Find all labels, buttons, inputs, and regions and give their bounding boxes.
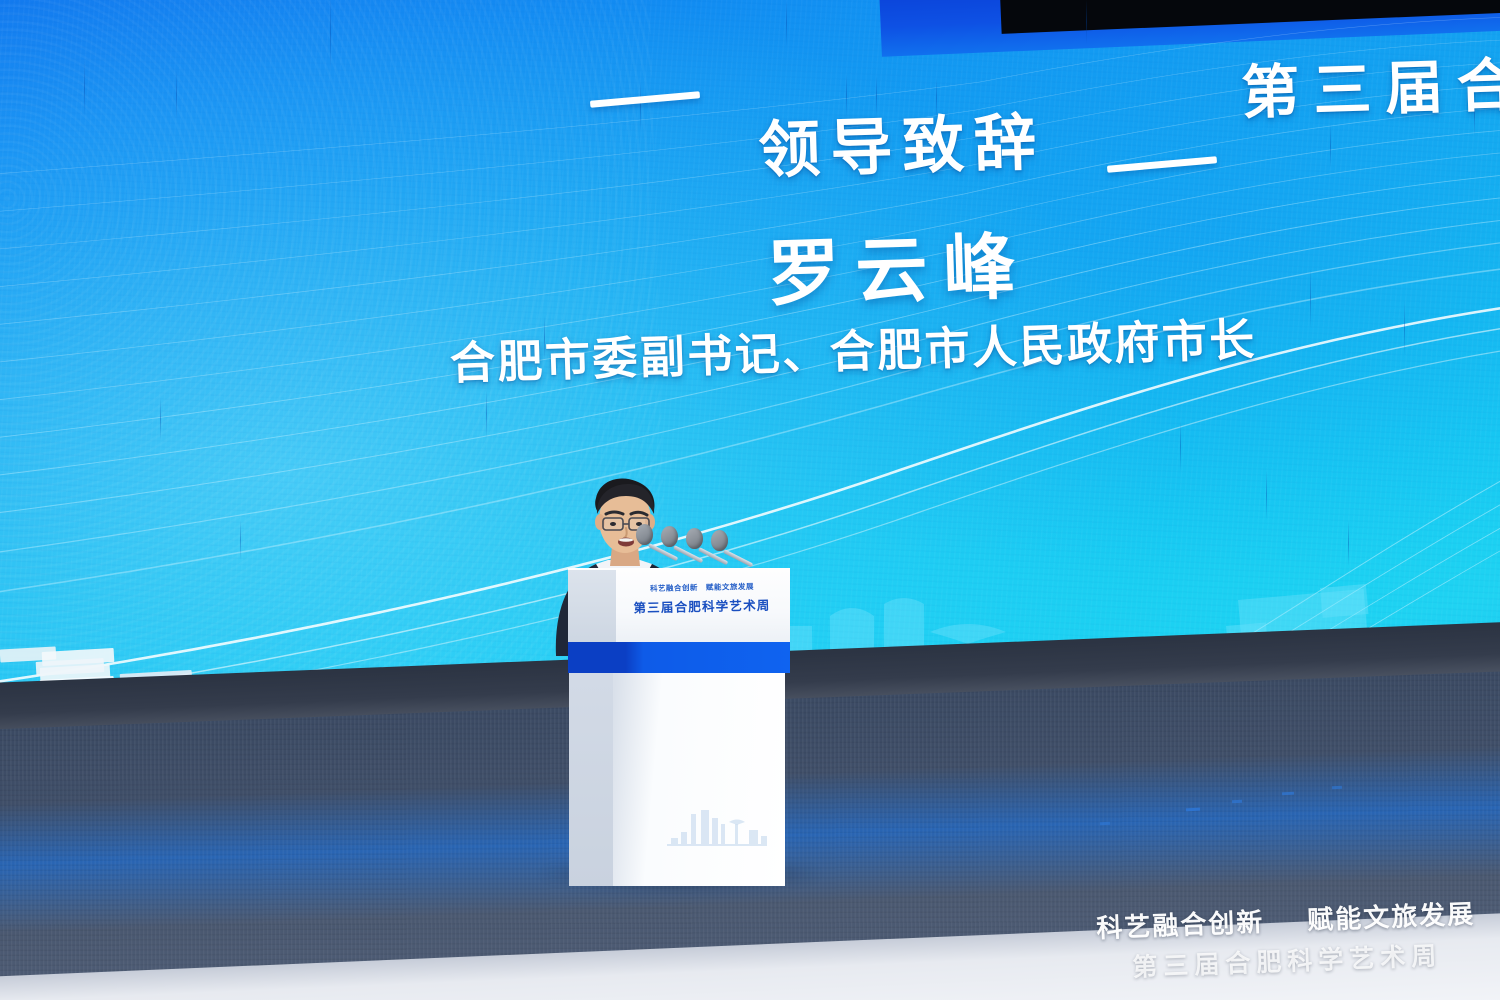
microphone-head	[711, 530, 728, 551]
microphone-stem	[723, 549, 753, 567]
podium-top-side	[568, 570, 616, 644]
podium-blue-band	[568, 642, 790, 673]
floor-light-dot	[1232, 800, 1242, 804]
podium: 科艺融合创新 赋能文旅发展 第三届合肥科学艺术周	[568, 568, 790, 890]
microphone-head	[661, 526, 678, 547]
floor-light-dot	[1100, 822, 1110, 826]
podium-event-name: 第三届合肥科学艺术周	[622, 594, 782, 616]
microphone-head	[686, 528, 703, 549]
event-name-top-right: 第三届合	[1240, 37, 1500, 129]
podium-body-side	[569, 673, 613, 886]
podium-microphones	[636, 524, 786, 590]
floor-light-dot	[1332, 786, 1342, 790]
speaker-name: 罗云峰	[766, 207, 1033, 320]
microphone-head	[636, 524, 653, 545]
section-title: 领导致辞	[757, 91, 1047, 189]
podium-skyline-graphic	[663, 808, 773, 852]
floor-light-dot	[1282, 792, 1294, 796]
screenshot-root: 领导致辞 罗云峰 合肥市委副书记、合肥市人民政府市长 第三届合	[0, 0, 1500, 1000]
